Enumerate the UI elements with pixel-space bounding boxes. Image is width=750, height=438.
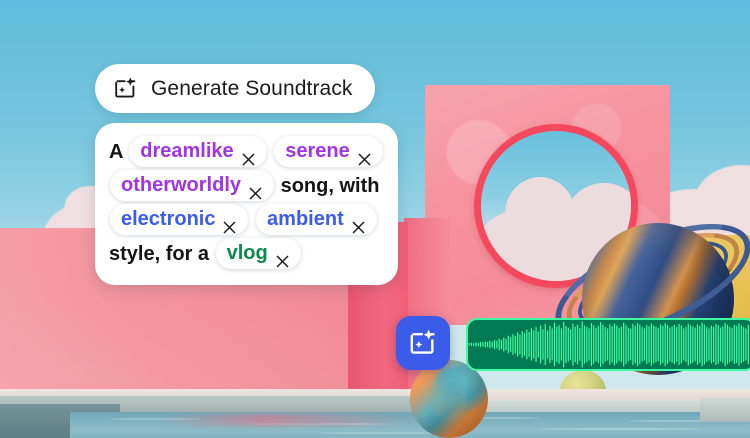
tag-label: electronic (121, 207, 215, 231)
tag-label: vlog (227, 241, 268, 265)
waveform-graphic (468, 320, 750, 369)
remove-tag-icon[interactable] (248, 178, 263, 193)
tag-label: otherworldly (121, 173, 241, 197)
tag-dreamlike[interactable]: dreamlike (129, 136, 266, 167)
remove-tag-icon[interactable] (241, 144, 256, 159)
prompt-text-song-with: song, with (281, 175, 380, 197)
audio-waveform-panel[interactable] (466, 318, 750, 371)
pool-reflection (160, 414, 420, 426)
tag-serene[interactable]: serene (274, 136, 383, 167)
prompt-text-a: A (109, 141, 123, 163)
prompt-token-flow: A dreamlike serene otherworldly (109, 135, 384, 271)
prompt-text-style-for-a: style, for a (109, 243, 209, 265)
remove-tag-icon[interactable] (222, 212, 237, 227)
sparkle-image-icon (408, 328, 439, 359)
tag-otherworldly[interactable]: otherworldly (110, 170, 274, 201)
pool-edge-right (700, 398, 750, 422)
tag-ambient[interactable]: ambient (256, 204, 377, 235)
remove-tag-icon[interactable] (351, 212, 366, 227)
sparkle-image-icon (113, 76, 139, 102)
tag-label: dreamlike (140, 139, 233, 163)
tag-label: serene (285, 139, 350, 163)
generate-soundtrack-button[interactable]: Generate Soundtrack (95, 64, 375, 113)
tag-vlog[interactable]: vlog (216, 238, 301, 269)
screenshot-canvas: Generate Soundtrack A dreamlike serene (0, 0, 750, 438)
generate-soundtrack-label: Generate Soundtrack (151, 77, 353, 101)
marble-sphere-swirl (432, 368, 466, 426)
remove-tag-icon[interactable] (357, 144, 372, 159)
tag-label: ambient (267, 207, 344, 231)
prompt-card[interactable]: A dreamlike serene otherworldly (95, 123, 398, 285)
remove-tag-icon[interactable] (275, 246, 290, 261)
audio-generate-button[interactable] (396, 316, 450, 370)
tag-electronic[interactable]: electronic (110, 204, 248, 235)
